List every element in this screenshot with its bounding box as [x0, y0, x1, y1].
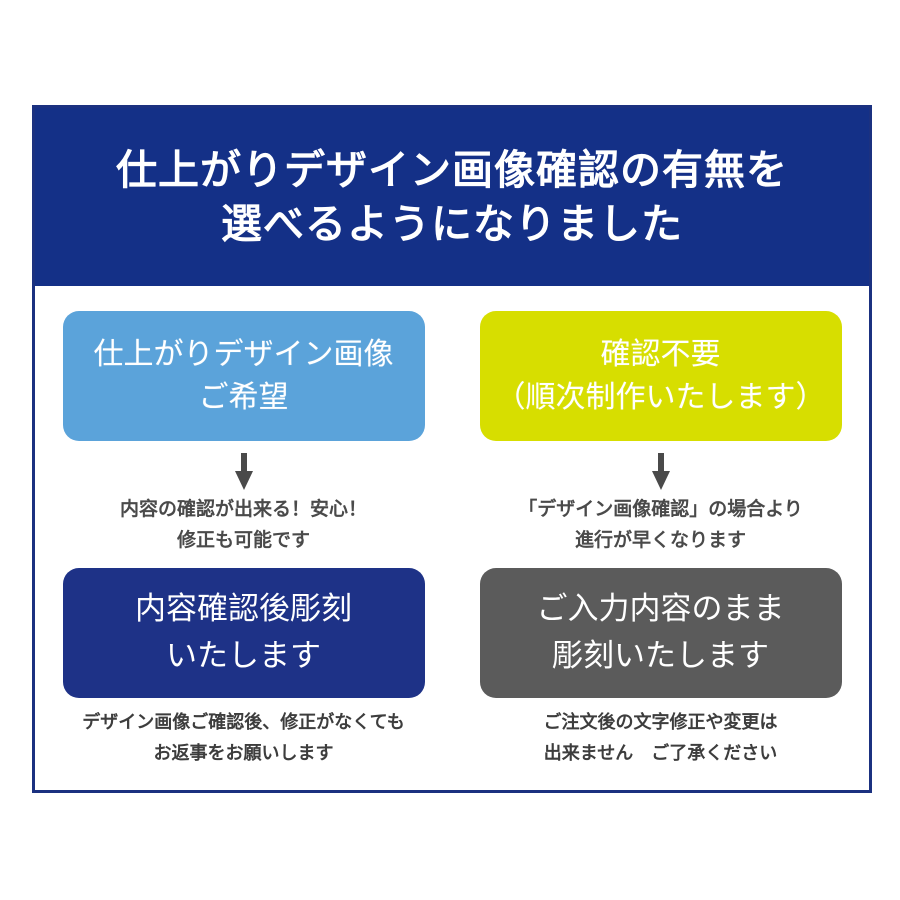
note-design-check-requested: 内容の確認が出来る！安心！ 修正も可能です — [120, 494, 367, 557]
option-label-line-2: ご希望 — [199, 376, 289, 420]
note-no-check-needed: 「デザイン画像確認」の場合より 進行が早くなります — [518, 494, 803, 557]
column-design-check-requested: 仕上がりデザイン画像 ご希望 内容の確認が出来る！安心！ 修正も可能です 内容確… — [35, 286, 452, 796]
result-label-line-1: ご入力内容のまま — [537, 586, 785, 633]
footnote-design-check-requested: デザイン画像ご確認後、修正がなくても お返事をお願いします — [82, 707, 405, 769]
framed-card: 仕上がりデザイン画像確認の有無を 選べるようになりました 仕上がりデザイン画像 … — [32, 105, 872, 793]
result-box-engrave-as-entered[interactable]: ご入力内容のまま 彫刻いたします — [480, 568, 842, 698]
footnote-line-2: 出来ません ご了承ください — [544, 738, 778, 769]
arrow-down-icon — [229, 453, 259, 490]
option-label-line-1: 確認不要 — [601, 333, 721, 377]
note-line-2: 修正も可能です — [120, 525, 367, 556]
result-label-line-2: いたします — [166, 633, 321, 680]
note-line-2: 進行が早くなります — [518, 525, 803, 556]
footnote-line-2: お返事をお願いします — [82, 738, 405, 769]
option-label-line-1: 仕上がりデザイン画像 — [94, 333, 394, 377]
result-label-line-2: 彫刻いたします — [552, 633, 769, 680]
note-line-1: 内容の確認が出来る！安心！ — [120, 494, 367, 525]
column-no-check-needed: 確認不要 （順次制作いたします） 「デザイン画像確認」の場合より 進行が早くなり… — [452, 286, 869, 796]
option-box-no-confirmation-needed[interactable]: 確認不要 （順次制作いたします） — [480, 311, 842, 441]
note-line-1: 「デザイン画像確認」の場合より — [518, 494, 803, 525]
option-box-design-image-requested[interactable]: 仕上がりデザイン画像 ご希望 — [63, 311, 425, 441]
header-title-line-2: 選べるようになりました — [221, 197, 683, 251]
infographic-root: 仕上がりデザイン画像確認の有無を 選べるようになりました 仕上がりデザイン画像 … — [0, 0, 900, 900]
arrow-down-icon — [646, 453, 676, 490]
footnote-line-1: ご注文後の文字修正や変更は — [544, 707, 778, 738]
header-title-line-1: 仕上がりデザイン画像確認の有無を — [116, 143, 788, 197]
header-banner: 仕上がりデザイン画像確認の有無を 選べるようになりました — [35, 108, 869, 286]
comparison-body: 仕上がりデザイン画像 ご希望 内容の確認が出来る！安心！ 修正も可能です 内容確… — [35, 286, 869, 796]
result-label-line-1: 内容確認後彫刻 — [135, 586, 352, 633]
footnote-line-1: デザイン画像ご確認後、修正がなくても — [82, 707, 405, 738]
footnote-no-check-needed: ご注文後の文字修正や変更は 出来ません ご了承ください — [544, 707, 778, 769]
result-box-engrave-after-check[interactable]: 内容確認後彫刻 いたします — [63, 568, 425, 698]
option-label-line-2: （順次制作いたします） — [496, 376, 826, 420]
